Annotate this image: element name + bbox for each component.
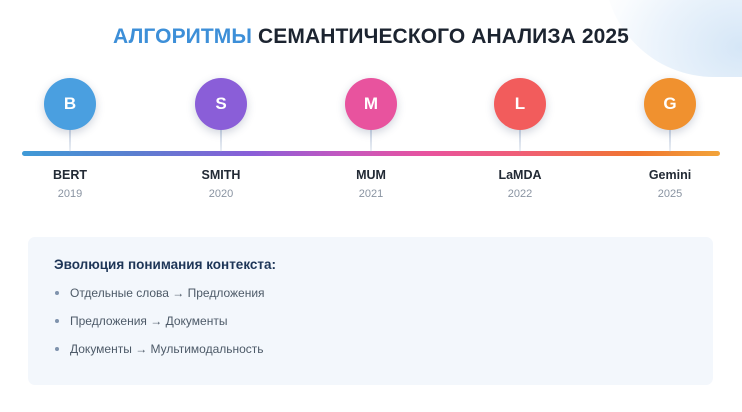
list-item-text: Отдельные слова → Предложения <box>70 286 265 300</box>
node-stem-connector <box>69 130 71 152</box>
list-item-text: Документы → Мультимодальность <box>70 342 264 356</box>
bullet-dot-icon <box>55 291 59 295</box>
node-stem-connector <box>370 130 372 152</box>
node-year-label: 2021 <box>311 188 431 200</box>
node-initial: B <box>64 94 76 113</box>
infographic-slide: АЛГОРИТМЫ СЕМАНТИЧЕСКОГО АНАЛИЗА 2025 B … <box>0 0 742 412</box>
page-title-accent: АЛГОРИТМЫ <box>113 25 252 48</box>
timeline-node-mum[interactable]: M MUM 2021 <box>311 78 431 130</box>
node-name-label: SMITH <box>161 168 281 182</box>
list-item-text: Предложения → Документы <box>70 314 227 328</box>
list-item: Предложения → Документы <box>54 314 687 329</box>
node-initial: M <box>364 94 378 113</box>
bullet-dot-icon <box>55 347 59 351</box>
node-initial: G <box>663 94 676 113</box>
node-year-label: 2020 <box>161 188 281 200</box>
list-item: Отдельные слова → Предложения <box>54 286 687 301</box>
node-name-label: LaMDA <box>460 168 580 182</box>
node-avatar-circle: B <box>44 78 96 130</box>
node-name-label: Gemini <box>610 168 730 182</box>
info-card: Эволюция понимания контекста: Отдельные … <box>28 237 713 385</box>
node-name-label: BERT <box>10 168 130 182</box>
timeline-node-gemini[interactable]: G Gemini 2025 <box>610 78 730 130</box>
node-name-label: MUM <box>311 168 431 182</box>
timeline-node-lamda[interactable]: L LaMDA 2022 <box>460 78 580 130</box>
page-title: АЛГОРИТМЫ СЕМАНТИЧЕСКОГО АНАЛИЗА 2025 <box>0 25 742 49</box>
node-year-label: 2019 <box>10 188 130 200</box>
node-stem-connector <box>519 130 521 152</box>
info-card-title: Эволюция понимания контекста: <box>54 257 687 272</box>
timeline-node-bert[interactable]: B BERT 2019 <box>10 78 130 130</box>
info-card-list: Отдельные слова → Предложения Предложени… <box>54 286 687 357</box>
timeline-node-smith[interactable]: S SMITH 2020 <box>161 78 281 130</box>
node-year-label: 2022 <box>460 188 580 200</box>
node-stem-connector <box>669 130 671 152</box>
node-avatar-circle: M <box>345 78 397 130</box>
node-initial: L <box>515 94 525 113</box>
page-title-rest: СЕМАНТИЧЕСКОГО АНАЛИЗА 2025 <box>252 25 629 48</box>
list-item: Документы → Мультимодальность <box>54 342 687 357</box>
node-avatar-circle: G <box>644 78 696 130</box>
node-year-label: 2025 <box>610 188 730 200</box>
node-avatar-circle: L <box>494 78 546 130</box>
timeline: B BERT 2019 S SMITH 2020 M MUM 2021 L <box>22 78 720 208</box>
bullet-dot-icon <box>55 319 59 323</box>
node-avatar-circle: S <box>195 78 247 130</box>
node-stem-connector <box>220 130 222 152</box>
node-initial: S <box>215 94 226 113</box>
